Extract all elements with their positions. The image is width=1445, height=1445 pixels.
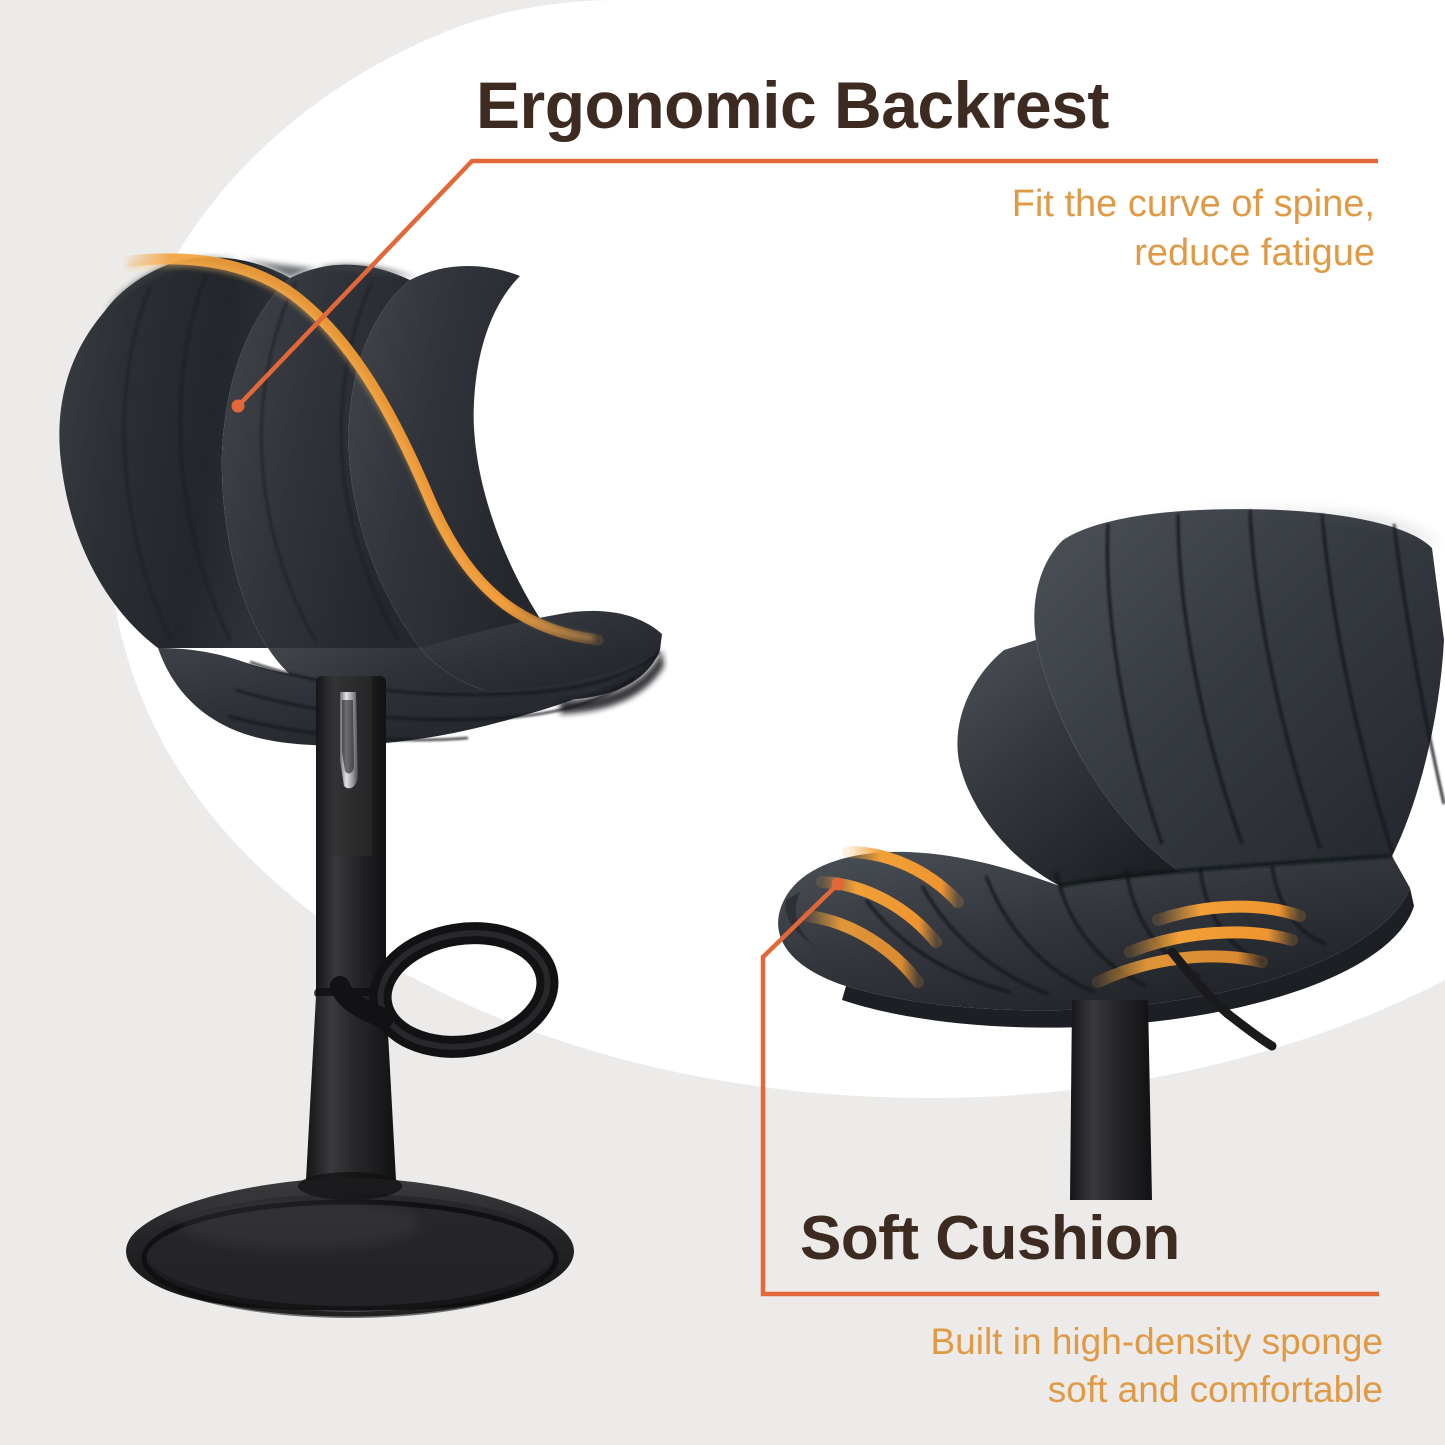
left-chair-figure xyxy=(59,257,664,1318)
left-chair-base xyxy=(126,1172,574,1318)
callout-title-soft-cushion: Soft Cushion xyxy=(800,1208,1180,1270)
callout-subtitle-soft-cushion: Built in high-density sponge soft and co… xyxy=(930,1318,1383,1414)
callout-title-ergonomic-backrest: Ergonomic Backrest xyxy=(476,72,1109,138)
right-column xyxy=(1070,1000,1152,1200)
infographic-canvas: Ergonomic Backrest Fit the curve of spin… xyxy=(0,0,1445,1445)
anchor-dot-cushion xyxy=(832,878,845,891)
callout-subtitle-ergonomic-backrest: Fit the curve of spine, reduce fatigue xyxy=(1012,180,1375,279)
left-chair-column xyxy=(306,676,396,1190)
right-chair-backrest xyxy=(957,509,1444,886)
left-chair-backrest xyxy=(59,257,545,648)
anchor-dot-backrest xyxy=(232,400,245,413)
base-hub xyxy=(298,1172,402,1200)
right-chair-figure xyxy=(778,509,1444,1200)
